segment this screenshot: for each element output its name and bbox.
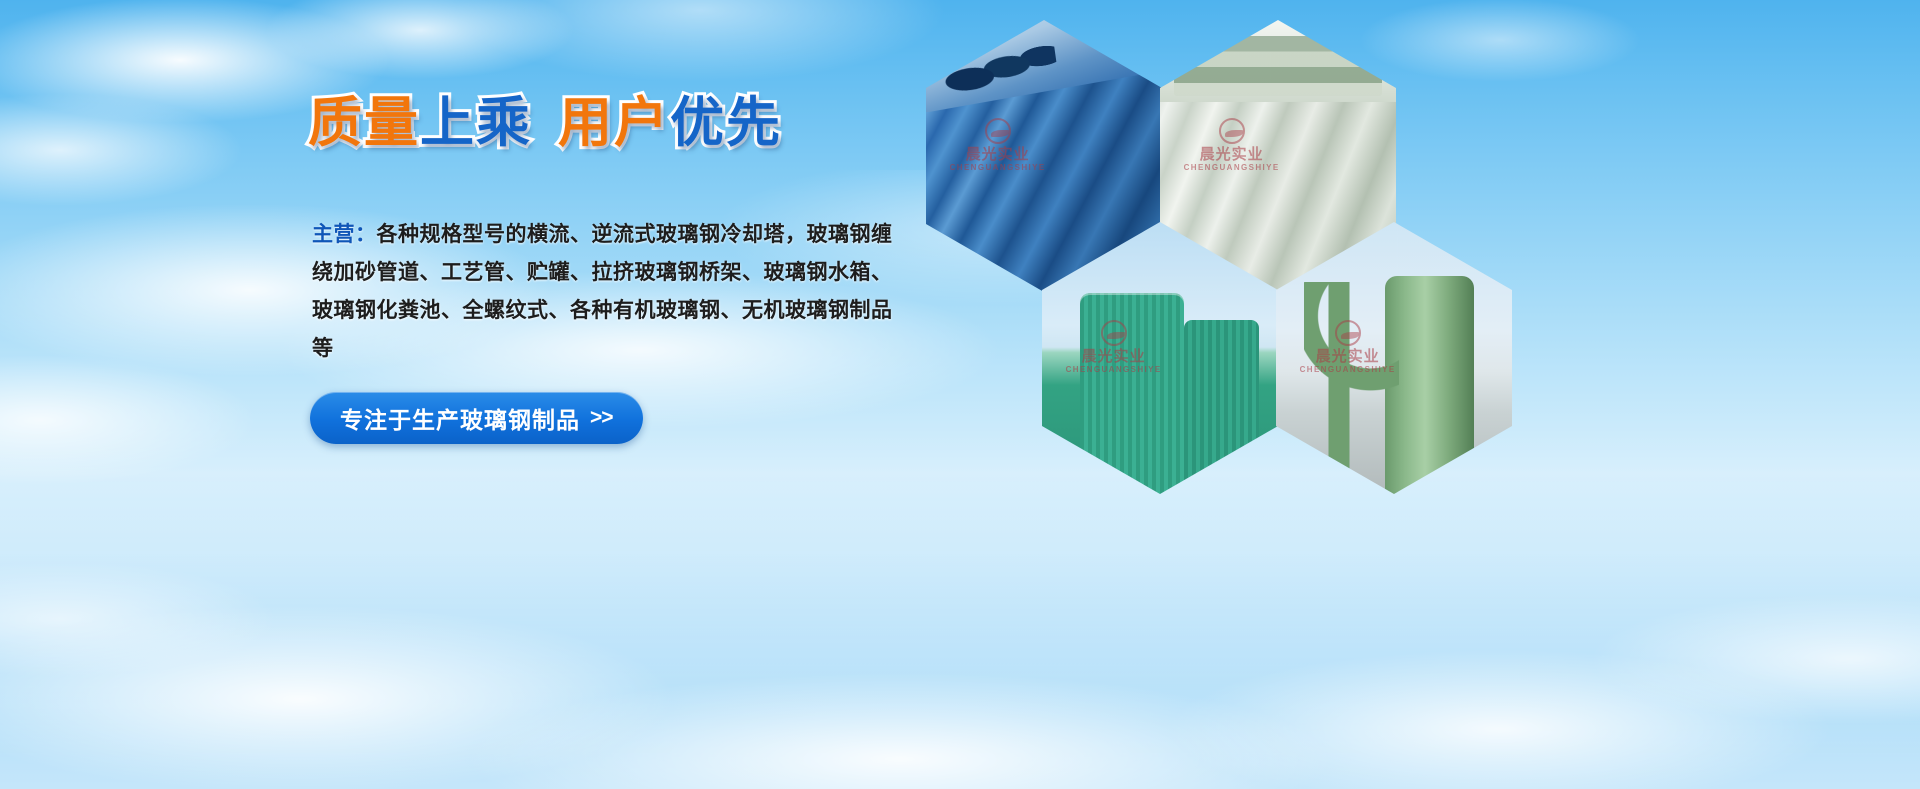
headline-segment-1: 质量 — [308, 96, 420, 150]
banner-description: 主营：各种规格型号的横流、逆流式玻璃钢冷却塔，玻璃钢缠绕加砂管道、工艺管、贮罐、… — [312, 216, 912, 368]
promo-banner: 质量上乘用户优先 主营：各种规格型号的横流、逆流式玻璃钢冷却塔，玻璃钢缠绕加砂管… — [0, 0, 1920, 789]
headline-segment-3: 用户 — [558, 96, 670, 150]
description-lead-label: 主营： — [312, 223, 377, 246]
headline-segment-2: 上乘 — [420, 96, 532, 150]
description-body: 各种规格型号的横流、逆流式玻璃钢冷却塔，玻璃钢缠绕加砂管道、工艺管、贮罐、拉挤玻… — [312, 223, 893, 360]
cta-button-label: 专注于生产玻璃钢制品 — [340, 401, 580, 435]
product-photo-collage: 晨光实业 CHENGUANGSHIYE 晨光实业 CHENGUANGSHIYE … — [920, 8, 1480, 428]
cta-button[interactable]: 专注于生产玻璃钢制品 >> — [310, 392, 643, 444]
banner-text-block: 质量上乘用户优先 主营：各种规格型号的横流、逆流式玻璃钢冷却塔，玻璃钢缠绕加砂管… — [0, 0, 960, 789]
headline-segment-4: 优先 — [670, 96, 782, 150]
chevron-right-icon: >> — [590, 406, 613, 430]
banner-headline: 质量上乘用户优先 — [308, 96, 782, 150]
